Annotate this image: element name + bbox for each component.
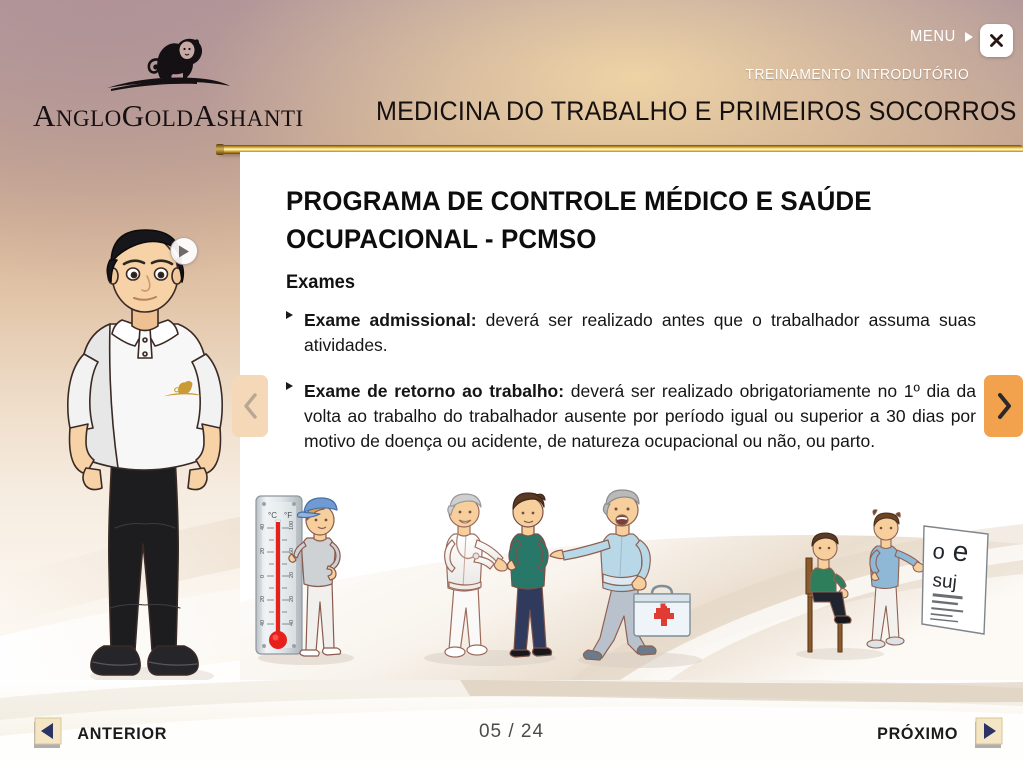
close-x-icon bbox=[988, 32, 1005, 49]
triangle-bullet-icon bbox=[286, 382, 293, 390]
svg-text:suj: suj bbox=[931, 570, 957, 593]
svg-text:40: 40 bbox=[260, 620, 266, 626]
svg-text:°F: °F bbox=[284, 511, 292, 520]
menu-button[interactable]: MENU bbox=[908, 28, 973, 46]
play-triangle-icon bbox=[178, 245, 190, 258]
svg-text:20: 20 bbox=[260, 596, 266, 602]
triangle-bullet-icon bbox=[286, 311, 293, 319]
svg-text:20: 20 bbox=[260, 548, 266, 554]
lion-on-ridge-logo-icon bbox=[103, 26, 233, 101]
section-subtitle: Exames bbox=[286, 272, 355, 294]
svg-text:20: 20 bbox=[289, 572, 295, 578]
slide-stage: ANGLOGOLDASHANTI MEDICINA DO TRABALHO E … bbox=[0, 0, 1023, 768]
page-title: PROGRAMA DE CONTROLE MÉDICO E SAÚDE OCUP… bbox=[286, 182, 958, 258]
svg-text:o: o bbox=[931, 538, 946, 564]
svg-text:°C: °C bbox=[268, 511, 277, 520]
play-audio-button[interactable] bbox=[170, 237, 198, 265]
chevron-right-icon bbox=[995, 392, 1013, 420]
bullet-lead: Exame admissional: bbox=[304, 310, 477, 330]
course-title: MEDICINA DO TRABALHO E PRIMEIROS SOCORRO… bbox=[376, 96, 1017, 127]
chevron-left-icon bbox=[242, 393, 259, 419]
eye-chart: o e suj bbox=[922, 526, 988, 634]
instructor-avatar bbox=[60, 228, 245, 693]
app-header: ANGLOGOLDASHANTI MEDICINA DO TRABALHO E … bbox=[0, 0, 1023, 150]
slide-illustration: °C °F bbox=[240, 482, 1023, 680]
bullet-item: Exame de retorno ao trabalho: deverá ser… bbox=[286, 379, 976, 454]
svg-text:40: 40 bbox=[260, 524, 266, 530]
occupational-exams-scene: °C °F bbox=[240, 482, 1023, 680]
program-label: TREINAMENTO INTRODUTÓRIO bbox=[745, 66, 969, 83]
close-button[interactable] bbox=[980, 24, 1013, 57]
bullet-lead: Exame de retorno ao trabalho: bbox=[304, 381, 564, 401]
caret-right-icon bbox=[965, 32, 973, 42]
content-panel: PROGRAMA DE CONTROLE MÉDICO E SAÚDE OCUP… bbox=[240, 152, 1023, 680]
brand-wordmark: ANGLOGOLDASHANTI bbox=[33, 98, 363, 134]
brand-logo: ANGLOGOLDASHANTI bbox=[33, 26, 363, 134]
previous-slide-arrow[interactable] bbox=[232, 375, 268, 437]
svg-text:100: 100 bbox=[289, 521, 295, 530]
bullet-item: Exame admissional: deverá ser realizado … bbox=[286, 308, 976, 358]
next-slide-arrow[interactable] bbox=[984, 375, 1023, 437]
menu-label: MENU bbox=[910, 28, 956, 46]
svg-text:e: e bbox=[951, 535, 970, 567]
svg-text:0: 0 bbox=[260, 575, 266, 578]
page-counter: 05 / 24 bbox=[0, 721, 1023, 743]
svg-text:20: 20 bbox=[289, 596, 295, 602]
svg-text:40: 40 bbox=[289, 620, 295, 626]
